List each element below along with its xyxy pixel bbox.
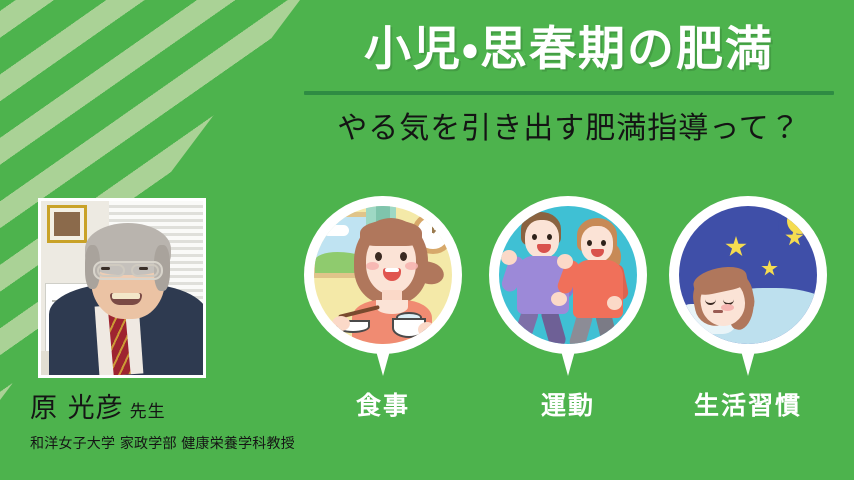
- star-icon: [761, 260, 778, 277]
- portrait-eye-right: [139, 267, 148, 270]
- photo-picture-frame: [47, 205, 87, 243]
- walker-woman-eye-right: [601, 240, 606, 246]
- topic-label-lifestyle: 生活習慣: [669, 386, 827, 422]
- page-subtitle: やる気を引き出す肥満指導って？: [296, 111, 842, 147]
- meal-woman-blush-left: [366, 262, 379, 270]
- topic-label-meal: 食事: [304, 386, 462, 422]
- meal-illustration: [314, 206, 452, 344]
- speaker-photo-frame: [38, 198, 206, 378]
- speaker-caption: 原 光彦先生 和洋女子大学 家政学部 健康栄養学科教授: [30, 386, 330, 453]
- walker-man-hand: [551, 292, 567, 306]
- portrait-teeth: [112, 293, 140, 299]
- walker-woman-eye-left: [587, 240, 592, 246]
- walker-man-fist: [501, 250, 517, 265]
- header-text-block: 小児・思春期の肥満 やる気を引き出す肥満指導って？: [296, 22, 842, 147]
- topic-pin-meal[interactable]: 食事: [304, 196, 462, 382]
- portrait-eye-left: [101, 267, 110, 270]
- meal-woman-eye-left: [375, 252, 382, 261]
- speaker-honorific: 先生: [130, 402, 166, 422]
- speaker-portrait-image: [41, 201, 203, 375]
- walker-woman-fist: [557, 254, 573, 269]
- speaker-affiliation: 和洋女子大学 家政学部 健康栄養学科教授: [30, 433, 330, 453]
- speaker-name-line: 原 光彦先生: [30, 386, 330, 425]
- walker-woman-hand: [607, 296, 622, 310]
- star-icon: [725, 236, 747, 258]
- portrait-smiling-mouth: [110, 293, 142, 305]
- sleeper-blush: [721, 304, 734, 311]
- crescent-moon-icon: [787, 208, 813, 234]
- topic-label-exercise: 運動: [489, 386, 647, 422]
- meal-woman-hand-right: [418, 322, 436, 337]
- portrait-eyeglasses: [93, 261, 163, 280]
- meal-window-cloud: [323, 225, 349, 236]
- title-divider-rule: [304, 91, 834, 95]
- walker-man-eye-right: [547, 234, 552, 240]
- meal-woman-bangs: [360, 220, 422, 246]
- meal-woman-blush-right: [405, 262, 418, 270]
- topic-pin-lifestyle[interactable]: 生活習慣: [669, 196, 827, 382]
- meal-woman-hand-left: [332, 316, 350, 331]
- topic-pin-group: 食事: [300, 196, 830, 426]
- exercise-illustration: [499, 206, 637, 344]
- walker-man-eye-left: [532, 234, 537, 240]
- sleeper-mouth: [713, 310, 723, 313]
- lifestyle-illustration: [679, 206, 817, 344]
- meal-woman-eye-right: [400, 252, 407, 261]
- speaker-name: 原 光彦: [30, 393, 124, 424]
- page-title: 小児・思春期の肥満: [296, 22, 842, 77]
- promo-banner: 小児・思春期の肥満 やる気を引き出す肥満指導って？: [0, 0, 854, 480]
- topic-pin-exercise[interactable]: 運動: [489, 196, 647, 382]
